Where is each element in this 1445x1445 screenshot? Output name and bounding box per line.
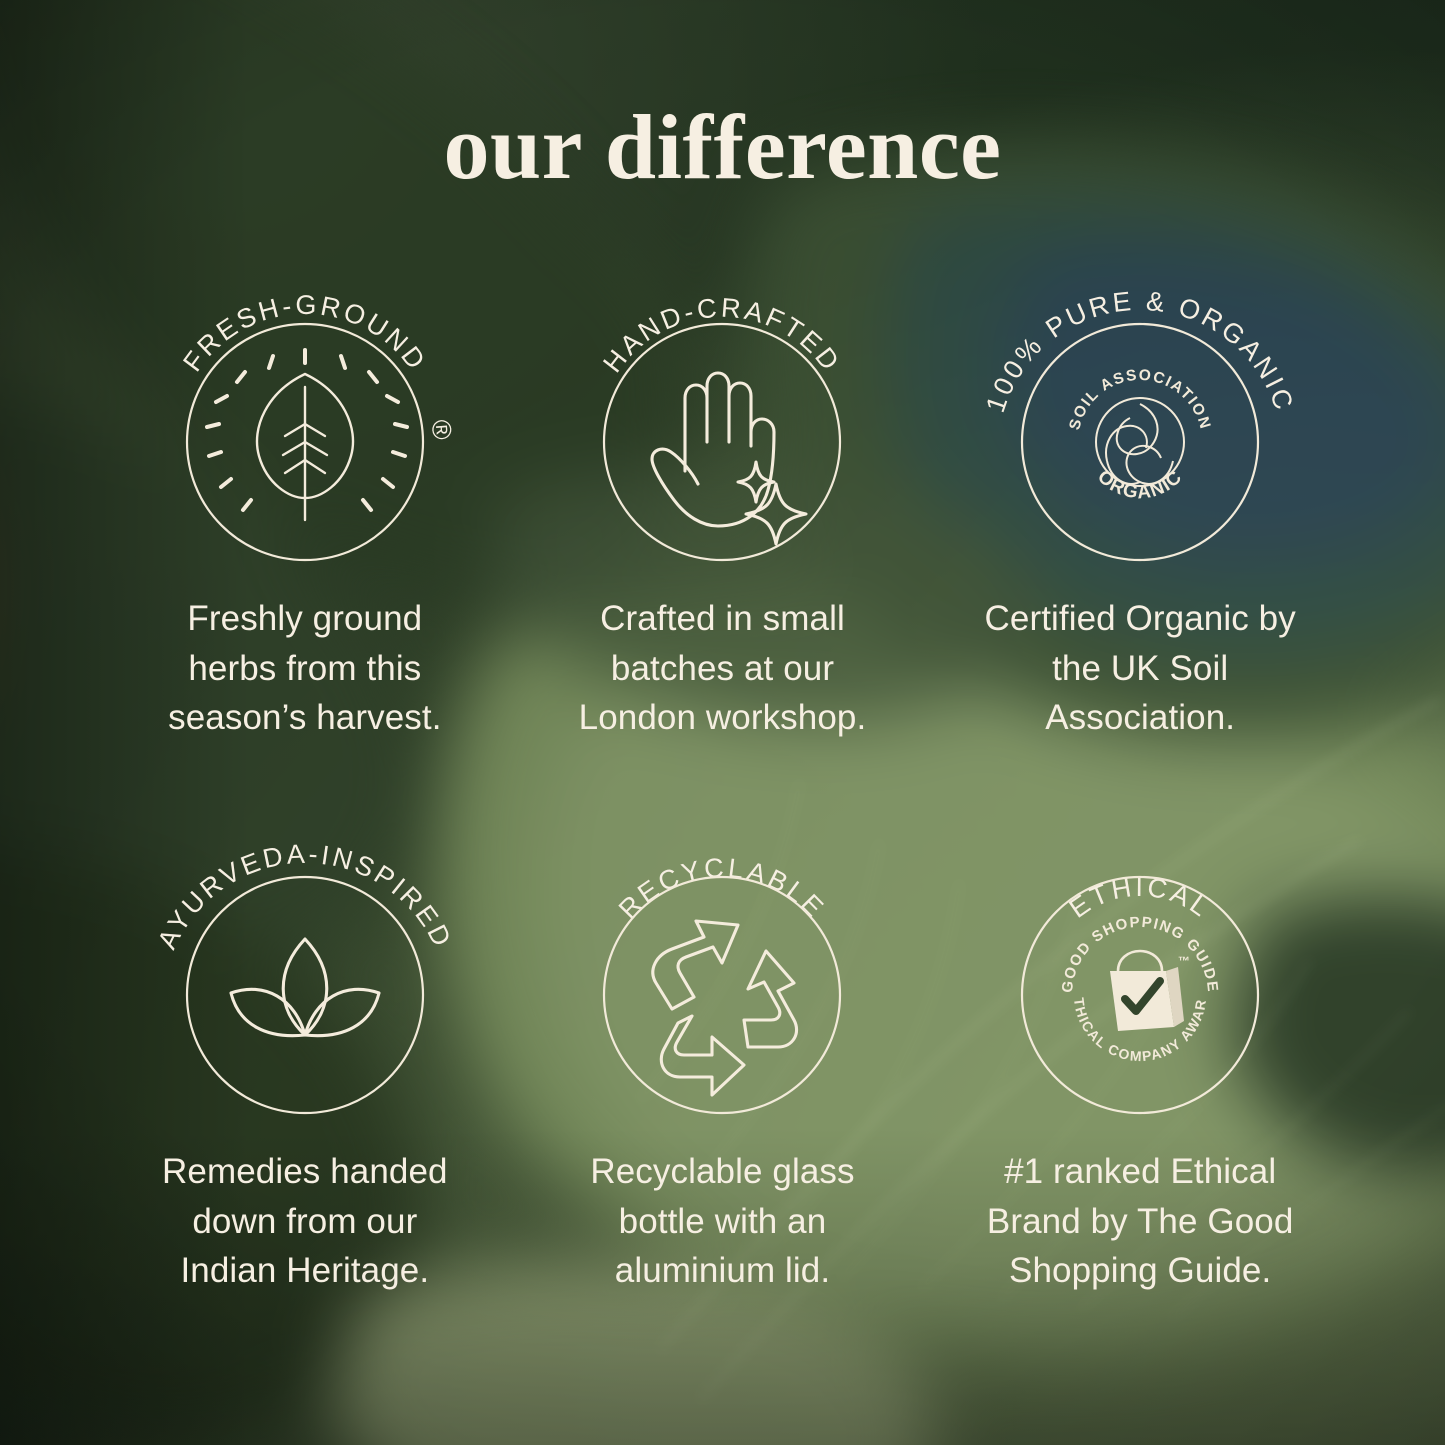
badge-pure-organic: 100% PURE & ORGANIC SOIL ASSOCIATION ORG… [970,246,1310,566]
hand-sparkle-icon [652,373,806,544]
badge-recyclable: RECYCLABLE [552,799,892,1119]
badge-hand-crafted: HAND-CRAFTED [552,246,892,566]
features-grid: FRESH-GROUND ® [96,246,1349,1296]
leaf-rays-icon [207,350,407,520]
badge-ethical: ETHICAL GOOD SHOPPING GUIDE ETHICAL COMP… [970,799,1310,1119]
badge-fresh-ground: FRESH-GROUND ® [135,246,475,566]
arc-label-ayurveda-inspired: AYURVEDA-INSPIRED [152,839,458,954]
recycling-arrows-icon [653,921,797,1095]
feature-pure-organic: 100% PURE & ORGANIC SOIL ASSOCIATION ORG… [931,246,1349,743]
trademark-icon: ™ [1178,954,1190,968]
arc-label-pure-organic: 100% PURE & ORGANIC [980,286,1300,416]
feature-hand-crafted: HAND-CRAFTED Crafted in small batches at… [514,246,932,743]
shopping-bag-check-icon [1110,951,1184,1031]
lotus-leaves-icon [231,939,379,1036]
feature-ayurveda-inspired: AYURVEDA-INSPIRED Remedies handed down f… [96,799,514,1296]
caption-fresh-ground: Freshly ground herbs from this season’s … [140,594,470,743]
caption-ethical: #1 ranked Ethical Brand by The Good Shop… [975,1147,1305,1296]
caption-hand-crafted: Crafted in small batches at our London w… [557,594,887,743]
page-title: our difference [0,101,1445,193]
caption-ayurveda-inspired: Remedies handed down from our Indian Her… [140,1147,470,1296]
soil-association-organic-logo: SOIL ASSOCIATION ORGANIC [1066,367,1214,504]
our-difference-panel: our difference FRESH-GROUND ® [0,0,1445,1445]
arc-label-hand-crafted: HAND-CRAFTED [598,293,847,378]
badge-ayurveda-inspired: AYURVEDA-INSPIRED [135,799,475,1119]
arc-label-recyclable: RECYCLABLE [613,853,831,925]
seal-top-text-soil-association: SOIL ASSOCIATION [1066,367,1214,432]
registered-trademark-icon: ® [426,419,458,444]
caption-recyclable: Recyclable glass bottle with an aluminiu… [557,1147,887,1296]
caption-pure-organic: Certified Organic by the UK Soil Associa… [975,594,1305,743]
feature-ethical: ETHICAL GOOD SHOPPING GUIDE ETHICAL COMP… [931,799,1349,1296]
feature-fresh-ground: FRESH-GROUND ® [96,246,514,743]
good-shopping-guide-logo: GOOD SHOPPING GUIDE ETHICAL COMPANY AWAR… [970,799,1221,1064]
feature-recyclable: RECYCLABLE Recyclable glass bottle with … [514,799,932,1296]
